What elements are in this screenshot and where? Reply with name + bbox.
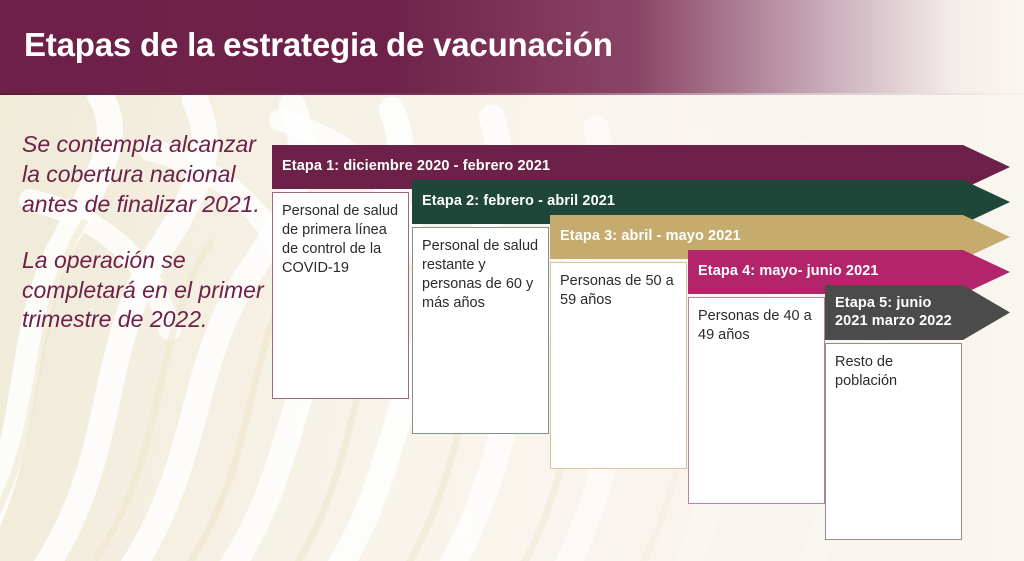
intro-text-block: Se contempla alcanzar la cobertura nacio… <box>22 130 272 335</box>
intro-paragraph-1: Se contempla alcanzar la cobertura nacio… <box>22 130 272 220</box>
stage-5-description: Resto de población <box>826 344 961 391</box>
stage-2-description-box: Personal de salud restante y personas de… <box>412 227 549 434</box>
stage-3-label: Etapa 3: abril - mayo 2021 <box>560 228 741 245</box>
stage-2-description: Personal de salud restante y personas de… <box>413 228 548 312</box>
slide-canvas: Etapas de la estrategia de vacunación Se… <box>0 0 1024 561</box>
stage-5-description-box: Resto de población <box>825 343 962 540</box>
header-divider <box>0 93 1024 95</box>
page-title: Etapas de la estrategia de vacunación <box>24 26 613 64</box>
stage-4-description-box: Personas de 40 a 49 años <box>688 297 825 504</box>
intro-paragraph-2: La operación se completará en el primer … <box>22 246 272 336</box>
slide-header: Etapas de la estrategia de vacunación <box>0 0 1024 93</box>
stage-1-label: Etapa 1: diciembre 2020 - febrero 2021 <box>282 158 550 175</box>
stage-5-header-bar[interactable]: Etapa 5: junio 2021 marzo 2022 <box>825 285 963 340</box>
stage-5-arrow-icon <box>963 285 1010 340</box>
stage-2-label: Etapa 2: febrero - abril 2021 <box>422 193 615 210</box>
stage-1-description-box: Personal de salud de primera línea de co… <box>272 192 409 399</box>
stage-3-description: Personas de 50 a 59 años <box>551 263 686 310</box>
stage-4-description: Personas de 40 a 49 años <box>689 298 824 345</box>
stage-3-description-box: Personas de 50 a 59 años <box>550 262 687 469</box>
stage-1-description: Personal de salud de primera línea de co… <box>273 193 408 277</box>
stage-5-label: Etapa 5: junio 2021 marzo 2022 <box>835 295 953 329</box>
stage-4-label: Etapa 4: mayo- junio 2021 <box>698 263 879 280</box>
